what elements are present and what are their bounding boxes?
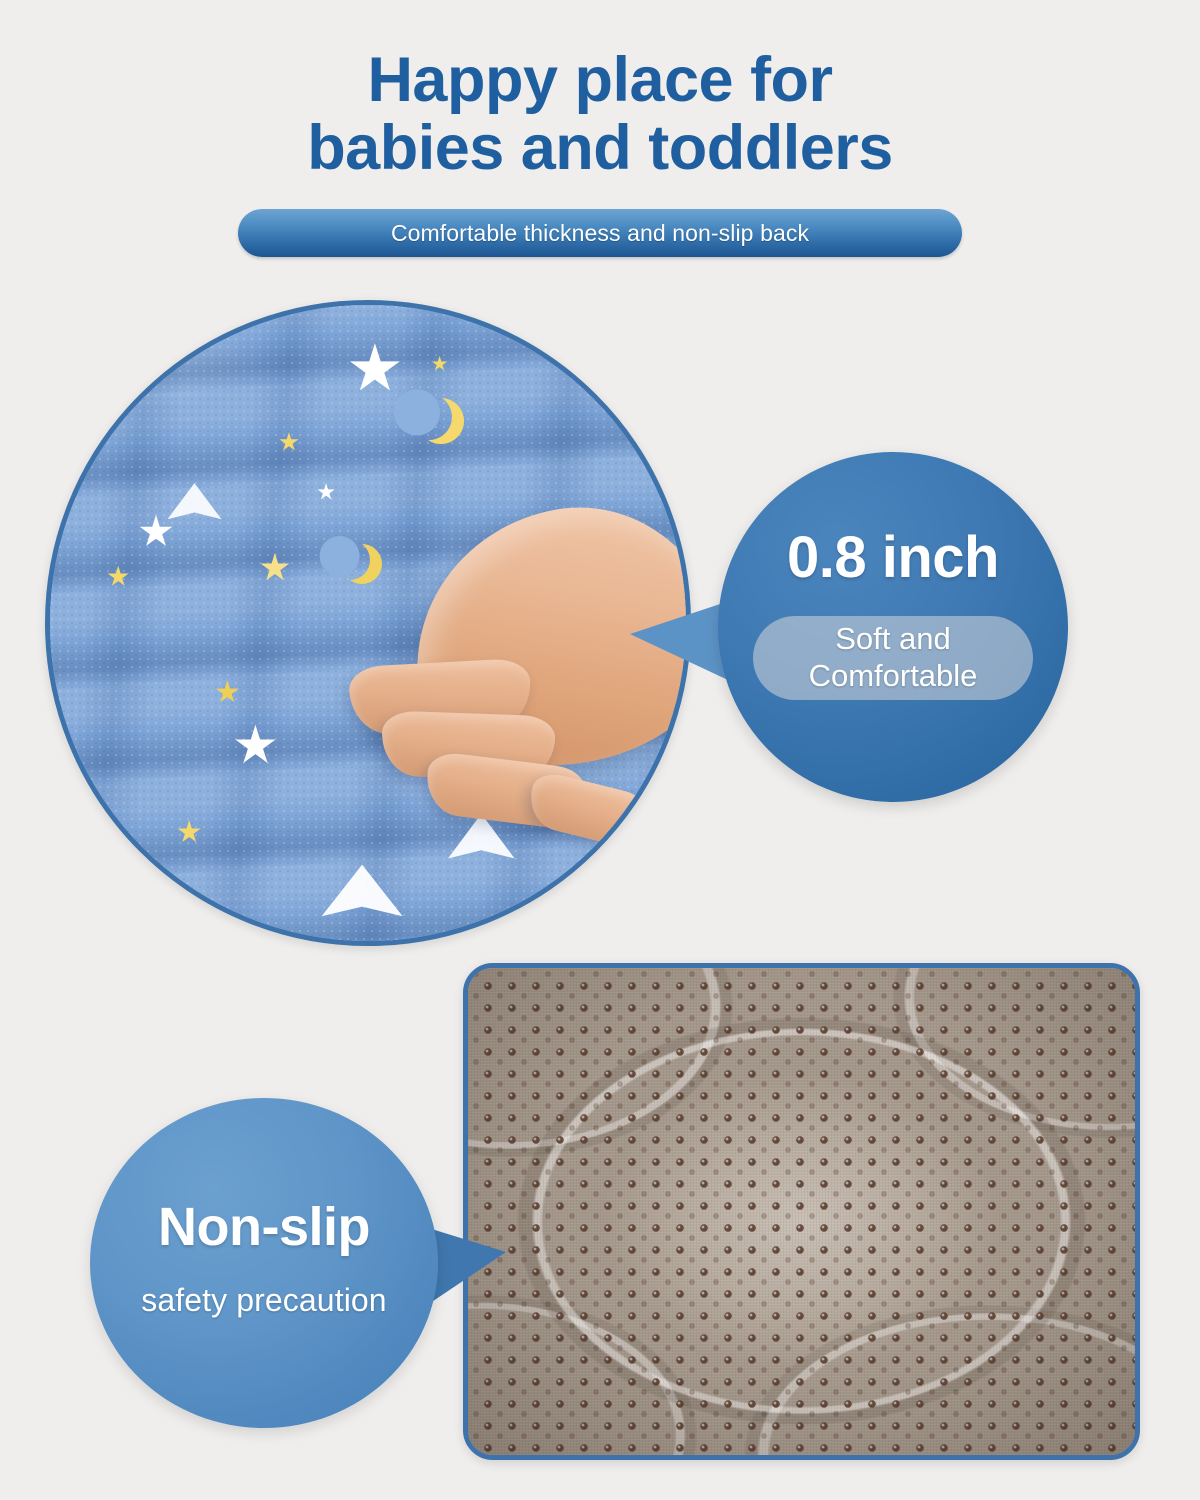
moon-motif [406,394,452,440]
non-slip-title: Non-slip [90,1196,438,1258]
thickness-badge-line2: Comfortable [809,658,978,695]
thickness-value: 0.8 inch [718,524,1068,591]
non-slip-callout: Non-slip safety precaution [90,1098,438,1428]
non-slip-subtitle: safety precaution [90,1282,438,1319]
page-title-line2: babies and toddlers [0,114,1200,182]
non-slip-photo [463,963,1140,1460]
thickness-photo-content [50,305,686,941]
non-slip-photo-content [468,968,1135,1455]
subtitle-text: Comfortable thickness and non-slip back [391,220,809,247]
thickness-badge-line1: Soft and [835,621,950,658]
photo-vignette [468,968,1135,1455]
subtitle-banner: Comfortable thickness and non-slip back [238,209,962,257]
thickness-callout: 0.8 inch Soft and Comfortable [718,452,1068,802]
thickness-photo [45,300,691,946]
callout-circle [90,1098,438,1428]
page-title: Happy place for babies and toddlers [0,46,1200,182]
page-title-line1: Happy place for [367,45,832,115]
infographic-page: Happy place for babies and toddlers Comf… [0,0,1200,1500]
thumb-nail [664,757,691,810]
thickness-badge: Soft and Comfortable [753,616,1033,700]
